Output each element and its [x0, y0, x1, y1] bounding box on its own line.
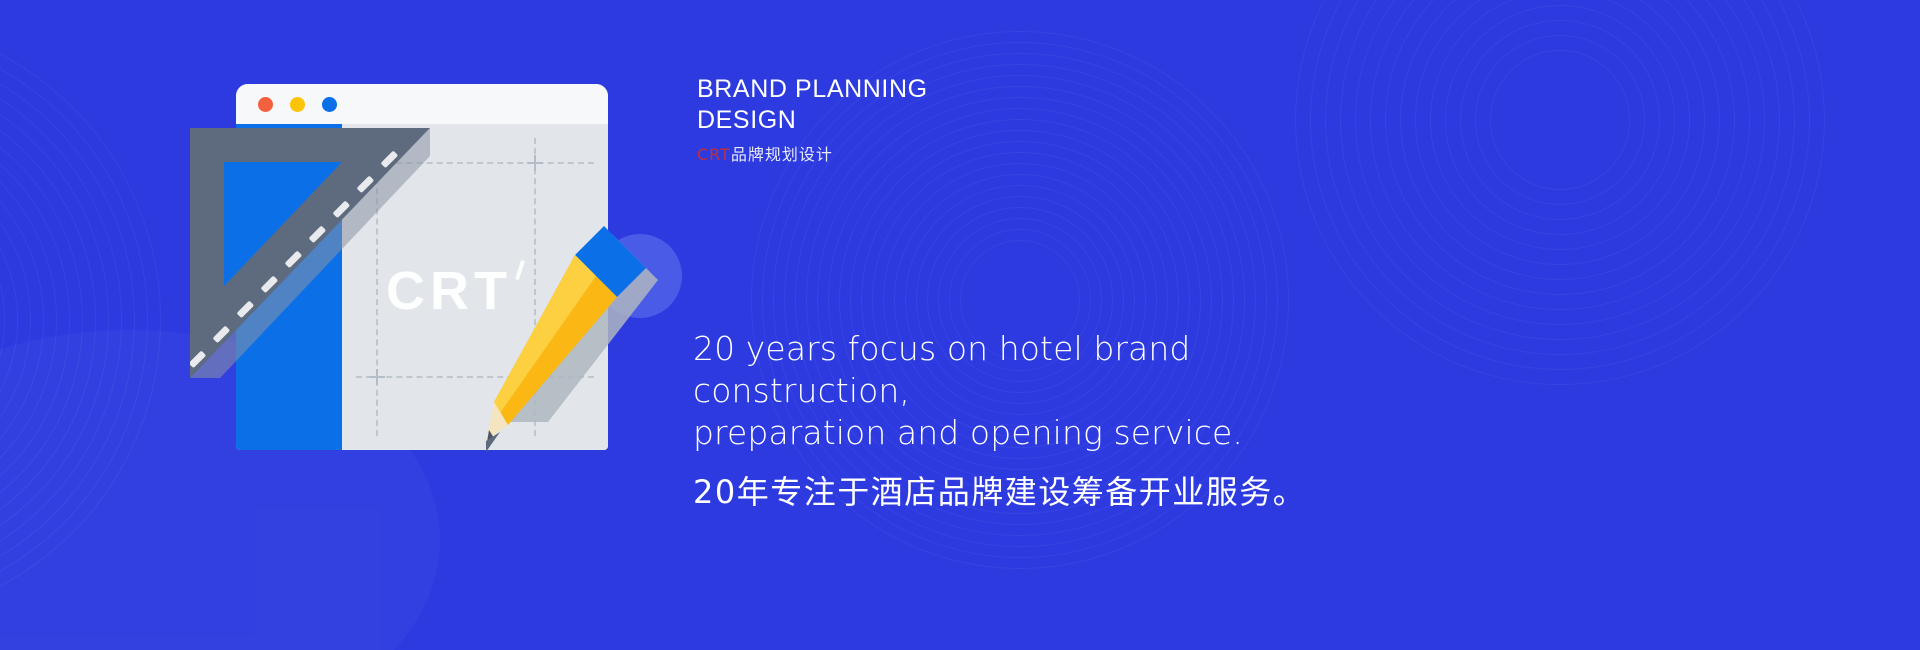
pencil-icon: [486, 226, 666, 456]
brand-design-illustration: CRT: [190, 78, 680, 470]
minimize-dot-icon[interactable]: [290, 97, 305, 112]
headline-text-block: 20 years focus on hotel brand constructi…: [693, 328, 1393, 513]
triangle-ruler-icon: [190, 128, 430, 378]
guide-crosshair: [527, 155, 543, 171]
eyebrow-chinese-text: 品牌规划设计: [731, 145, 833, 164]
brand-banner: CRT: [0, 0, 1920, 650]
maximize-dot-icon[interactable]: [322, 97, 337, 112]
headline-english: 20 years focus on hotel brand constructi…: [693, 328, 1393, 455]
eyebrow-crt-prefix: CRT: [697, 145, 731, 164]
eyebrow-chinese-subtitle: CRT品牌规划设计: [697, 141, 1217, 165]
eyebrow-english-title: BRAND PLANNING DESIGN: [697, 74, 1217, 135]
browser-titlebar: [236, 84, 608, 124]
close-dot-icon[interactable]: [258, 97, 273, 112]
headline-chinese: 20年专注于酒店品牌建设筹备开业服务。: [693, 467, 1393, 513]
eyebrow-text-block: BRAND PLANNING DESIGN CRT品牌规划设计: [697, 74, 1217, 165]
